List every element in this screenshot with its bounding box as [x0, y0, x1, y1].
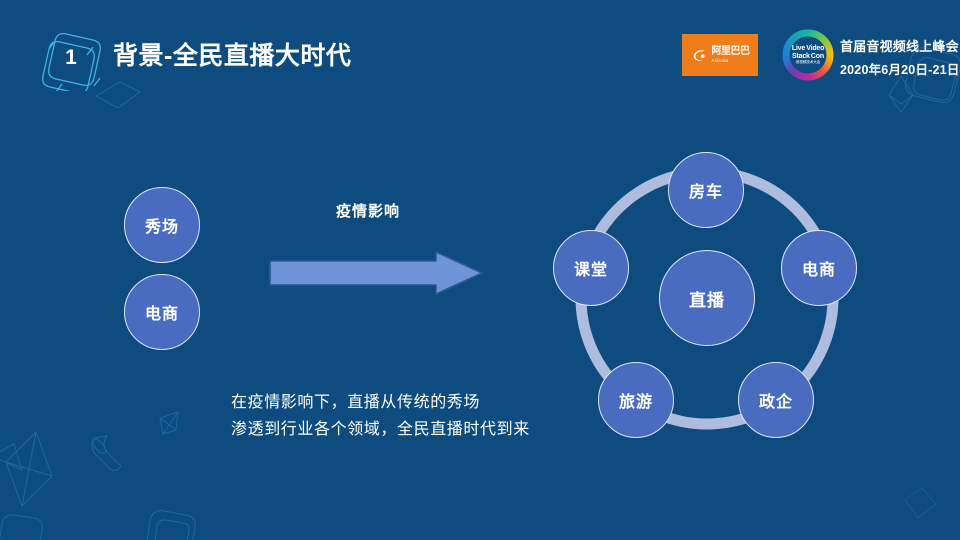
page-title: 背景-全民直播大时代	[113, 36, 351, 72]
lvs-line-1: Live Video	[792, 45, 824, 52]
ecosystem-hub: 直播	[659, 250, 755, 346]
alibaba-wordmark: 阿里巴巴 Alibaba	[712, 47, 750, 63]
lvs-line-3: 音视频技术大会	[796, 61, 820, 65]
right-arrow-icon	[268, 250, 484, 296]
lvs-line-2: Stack Con	[792, 53, 824, 60]
source-circle-show: 秀场	[124, 187, 200, 263]
source-circle-ecommerce-label: 电商	[145, 300, 179, 324]
ecosystem-node-tourism: 旅游	[598, 362, 674, 438]
summit-info: 首届音视频线上峰会 2020年6月20日-21日	[840, 36, 960, 78]
livevideostack-wordmark: Live Video Stack Con 音视频技术大会	[781, 28, 835, 82]
ecosystem-node-ecommerce-label: 电商	[802, 256, 836, 280]
ecosystem-node-government-label: 政企	[759, 388, 793, 412]
section-number-badge: 1	[38, 23, 106, 91]
ecosystem-node-classroom: 课堂	[553, 230, 629, 306]
ecosystem-node-rv-label: 房车	[689, 178, 723, 202]
caption-line-2: 渗透到行业各个领域，全民直播时代到来	[231, 415, 530, 439]
alibaba-logo: 阿里巴巴 Alibaba	[682, 34, 758, 76]
slide-caption: 在疫情影响下，直播从传统的秀场 渗透到行业各个领域，全民直播时代到来	[231, 388, 530, 439]
slide-canvas: 1 背景-全民直播大时代 阿里巴巴 Alibaba	[0, 0, 960, 540]
ecosystem-node-classroom-label: 课堂	[574, 256, 608, 280]
section-number-label: 1	[37, 24, 105, 92]
alibaba-name-en: Alibaba	[712, 59, 729, 64]
ecosystem-node-government: 政企	[738, 362, 814, 438]
summit-name: 首届音视频线上峰会	[840, 36, 960, 55]
alibaba-name-cn: 阿里巴巴	[712, 47, 750, 57]
ecosystem-node-rv: 房车	[668, 152, 744, 228]
summit-date: 2020年6月20日-21日	[840, 59, 960, 78]
source-circle-show-label: 秀场	[145, 213, 179, 237]
source-circle-ecommerce: 电商	[124, 274, 200, 350]
caption-line-1: 在疫情影响下，直播从传统的秀场	[231, 388, 530, 412]
ecosystem-node-tourism-label: 旅游	[619, 388, 653, 412]
alibaba-logo-icon	[691, 47, 708, 64]
ecosystem-node-ecommerce: 电商	[781, 230, 857, 306]
ecosystem-hub-label: 直播	[689, 286, 725, 311]
livevideostack-logo: Live Video Stack Con 音视频技术大会	[781, 28, 835, 82]
slide-header: 1 背景-全民直播大时代 阿里巴巴 Alibaba	[0, 0, 960, 100]
transition-label: 疫情影响	[336, 200, 400, 221]
